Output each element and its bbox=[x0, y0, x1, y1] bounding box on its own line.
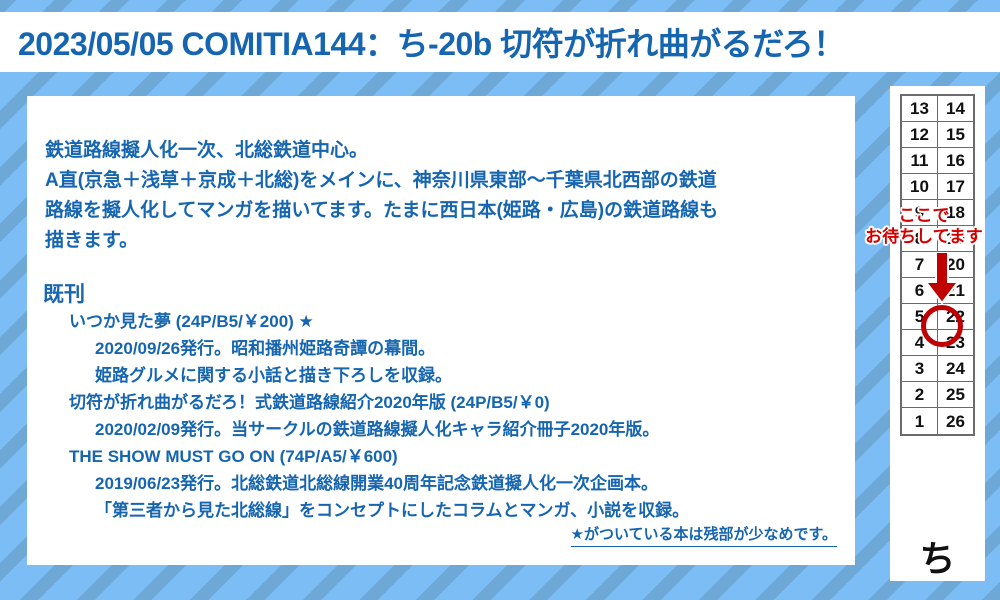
booth-cell[interactable]: 17 bbox=[938, 174, 973, 200]
publications-heading: 既刊 bbox=[43, 278, 85, 308]
booth-cell[interactable]: 5 bbox=[902, 304, 937, 330]
publications-list: いつか見た夢 (24P/B5/￥200) ★ 2020/09/26発行。昭和播州… bbox=[43, 308, 838, 524]
down-arrow-icon bbox=[925, 252, 959, 304]
block-label: ち bbox=[890, 542, 985, 578]
description-line: 鉄道路線擬人化一次、北総鉄道中心。 bbox=[45, 136, 840, 166]
page-title: 2023/05/05 COMITIA144：ち-20b 切符が折れ曲がるだろ！ bbox=[18, 19, 845, 65]
booth-cell[interactable]: 14 bbox=[938, 96, 973, 122]
title-bar: 2023/05/05 COMITIA144：ち-20b 切符が折れ曲がるだろ！ bbox=[0, 12, 1000, 72]
booth-cell[interactable]: 25 bbox=[938, 382, 973, 408]
booth-cell[interactable]: 1 bbox=[902, 408, 937, 434]
book-note: 2019/06/23発行。北総鉄道北総線開業40周年記念鉄道擬人化一次企画本。 bbox=[43, 470, 838, 497]
book-title: 切符が折れ曲がるだろ！式鉄道路線紹介2020年版 (24P/B5/￥0) bbox=[43, 389, 838, 416]
annotation-line: ここで bbox=[848, 205, 1000, 226]
description-line: A直(京急＋浅草＋京成＋北総)をメインに、神奈川県東部〜千葉県北西部の鉄道 bbox=[45, 166, 840, 196]
booth-cell[interactable]: 15 bbox=[938, 122, 973, 148]
booth-cell[interactable]: 12 bbox=[902, 122, 937, 148]
booth-cell[interactable]: 13 bbox=[902, 96, 937, 122]
stock-footnote: ★がついている本は残部が少なめです。 bbox=[571, 523, 838, 547]
booth-cell[interactable]: 3 bbox=[902, 356, 937, 382]
booth-cell[interactable]: 16 bbox=[938, 148, 973, 174]
circle-description: 鉄道路線擬人化一次、北総鉄道中心。 A直(京急＋浅草＋京成＋北総)をメインに、神… bbox=[45, 136, 840, 256]
book-title: いつか見た夢 (24P/B5/￥200) ★ bbox=[43, 308, 838, 335]
book-note: 姫路グルメに関する小話と描き下ろしを収録。 bbox=[43, 362, 838, 389]
description-line: 路線を擬人化してマンガを描いてます。たまに西日本(姫路・広島)の鉄道路線も bbox=[45, 196, 840, 226]
description-line: 描きます。 bbox=[45, 226, 840, 256]
book-title: THE SHOW MUST GO ON (74P/A5/￥600) bbox=[43, 443, 838, 470]
booth-cell[interactable]: 22 bbox=[938, 304, 973, 330]
booth-cell[interactable]: 11 bbox=[902, 148, 937, 174]
booth-cell[interactable]: 10 bbox=[902, 174, 937, 200]
book-note: 2020/09/26発行。昭和播州姫路奇譚の幕間。 bbox=[43, 335, 838, 362]
circle-info-card: 鉄道路線擬人化一次、北総鉄道中心。 A直(京急＋浅草＋京成＋北総)をメインに、神… bbox=[27, 96, 855, 565]
book-note: 2020/02/09発行。当サークルの鉄道路線擬人化キャラ紹介冊子2020年版。 bbox=[43, 416, 838, 443]
booth-cell[interactable]: 2 bbox=[902, 382, 937, 408]
booth-map-card: 13 12 11 10 9 8 7 6 5 4 3 2 1 14 15 16 1… bbox=[890, 86, 985, 581]
booth-annotation: ここで お待ちしてます bbox=[848, 205, 1000, 247]
annotation-line: お待ちしてます bbox=[848, 226, 1000, 247]
book-note: 「第三者から見た北総線」をコンセプトにしたコラムとマンガ、小説を収録。 bbox=[43, 497, 838, 524]
booth-cell[interactable]: 4 bbox=[902, 330, 937, 356]
booth-cell[interactable]: 24 bbox=[938, 356, 973, 382]
booth-cell[interactable]: 23 bbox=[938, 330, 973, 356]
booth-cell[interactable]: 26 bbox=[938, 408, 973, 434]
